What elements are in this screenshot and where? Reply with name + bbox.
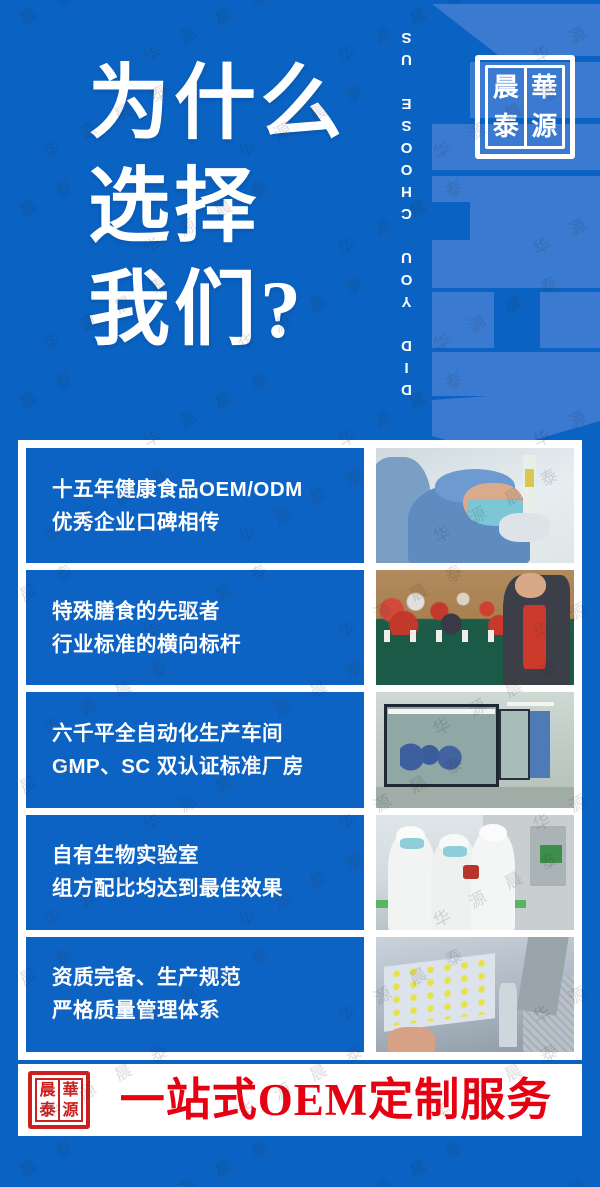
feature-2-line-1: 特殊膳食的先驱者 xyxy=(52,595,338,628)
feature-4-photo-production-line xyxy=(376,815,574,930)
feature-row-1: 十五年健康食品OEM/ODM 优秀企业口碑相传 xyxy=(26,448,574,563)
feature-card-4[interactable]: 自有生物实验室 组方配比均达到最佳效果 xyxy=(26,815,364,930)
feature-4-line-1: 自有生物实验室 xyxy=(52,839,338,872)
feature-1-line-2: 优秀企业口碑相传 xyxy=(52,506,338,539)
feature-card-3[interactable]: 六千平全自动化生产车间 GMP、SC 双认证标准厂房 xyxy=(26,692,364,807)
feature-row-3: 六千平全自动化生产车间 GMP、SC 双认证标准厂房 xyxy=(26,692,574,807)
seal-red-inner-frame: 晨 泰 華 源 xyxy=(35,1078,83,1122)
seal-red-char-yuan: 源 xyxy=(62,1102,78,1118)
feature-5-line-2: 严格质量管理体系 xyxy=(52,994,338,1027)
feature-list-frame: 十五年健康食品OEM/ODM 优秀企业口碑相传 特殊膳食的先驱者 行业标准的横向… xyxy=(18,440,582,1060)
title-line-2: 选择 xyxy=(88,155,346,258)
banner-slogan: 一站式OEM定制服务 xyxy=(100,1078,572,1123)
seal-column-left: 晨 泰 xyxy=(488,68,527,146)
watermark-text: 华 源 晨 泰 xyxy=(0,1129,84,1187)
poster-root: 为什么 选择 我们? DID YOU CHOOSE US 晨 泰 華 源 xyxy=(0,0,600,1187)
feature-row-4: 自有生物实验室 组方配比均达到最佳效果 xyxy=(26,815,574,930)
feature-3-photo-cleanroom xyxy=(376,692,574,807)
title-line-1: 为什么 xyxy=(88,52,346,155)
seal-red-char-chen: 晨 xyxy=(39,1082,55,1098)
seal-char-yuan: 源 xyxy=(531,114,557,140)
seal-inner-frame: 晨 泰 華 源 xyxy=(485,65,565,149)
brand-seal-logo-white: 晨 泰 華 源 xyxy=(475,55,575,159)
feature-card-5[interactable]: 资质完备、生产规范 严格质量管理体系 xyxy=(26,937,364,1052)
seal-char-hua: 華 xyxy=(531,75,557,101)
seal-red-column-right: 華 源 xyxy=(60,1080,81,1120)
feature-5-photo-blister-machine xyxy=(376,937,574,1052)
feature-card-2[interactable]: 特殊膳食的先驱者 行业标准的横向标杆 xyxy=(26,570,364,685)
watermark-text: 华 源 晨 泰 xyxy=(333,1129,475,1187)
feature-row-2: 特殊膳食的先驱者 行业标准的横向标杆 xyxy=(26,570,574,685)
feature-2-line-2: 行业标准的横向标杆 xyxy=(52,628,338,661)
seal-char-chen: 晨 xyxy=(493,75,519,101)
feature-3-line-1: 六千平全自动化生产车间 xyxy=(52,717,338,750)
feature-row-5: 资质完备、生产规范 严格质量管理体系 xyxy=(26,937,574,1052)
feature-3-line-2: GMP、SC 双认证标准厂房 xyxy=(52,750,338,783)
page-title: 为什么 选择 我们? xyxy=(88,52,346,361)
seal-char-tai: 泰 xyxy=(493,114,519,140)
poster-header: 为什么 选择 我们? DID YOU CHOOSE US 晨 泰 華 源 xyxy=(0,0,600,440)
seal-red-char-hua: 華 xyxy=(62,1082,78,1098)
seal-red-char-tai: 泰 xyxy=(39,1102,55,1118)
watermark-text: 华 源 晨 泰 xyxy=(528,1129,600,1187)
feature-5-line-1: 资质完备、生产规范 xyxy=(52,961,338,994)
feature-1-photo-lab-worker xyxy=(376,448,574,563)
feature-rows: 十五年健康食品OEM/ODM 优秀企业口碑相传 特殊膳食的先驱者 行业标准的横向… xyxy=(26,448,574,1052)
watermark-text: 华 源 晨 泰 xyxy=(138,1129,280,1187)
seal-column-right: 華 源 xyxy=(527,68,563,146)
bottom-banner: 晨 泰 華 源 一站式OEM定制服务 xyxy=(18,1064,582,1136)
feature-1-line-1: 十五年健康食品OEM/ODM xyxy=(52,473,338,506)
seal-red-column-left: 晨 泰 xyxy=(37,1080,60,1120)
feature-card-1[interactable]: 十五年健康食品OEM/ODM 优秀企业口碑相传 xyxy=(26,448,364,563)
brand-seal-logo-red: 晨 泰 華 源 xyxy=(28,1071,90,1129)
vertical-english-subtitle: DID YOU CHOOSE US xyxy=(398,16,432,406)
feature-2-photo-conference xyxy=(376,570,574,685)
title-line-3: 我们? xyxy=(88,258,346,361)
feature-4-line-2: 组方配比均达到最佳效果 xyxy=(52,872,338,905)
